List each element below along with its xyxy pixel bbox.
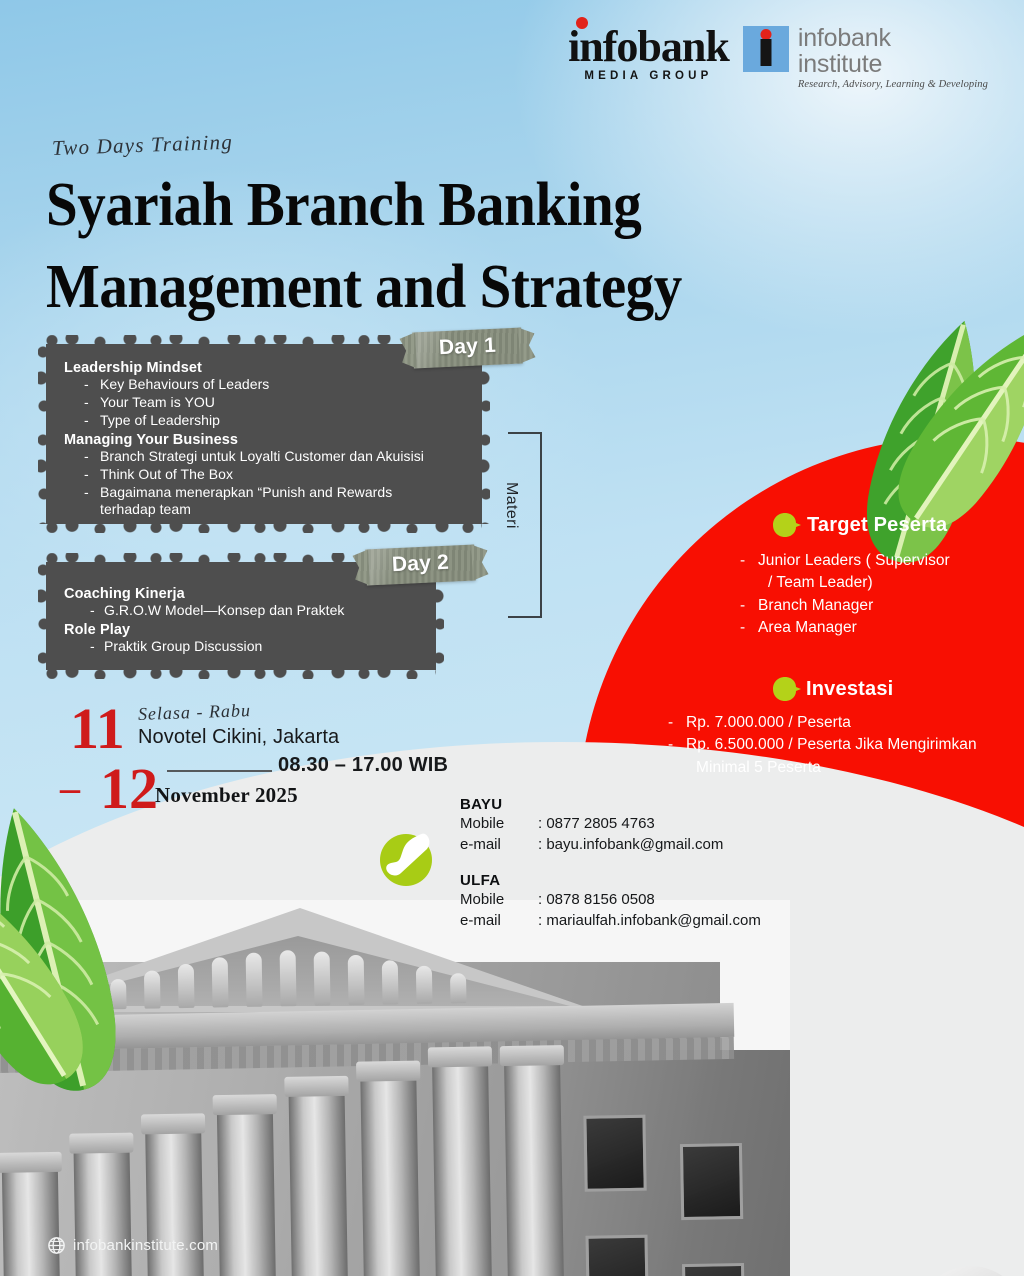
page-title-line-1: Syariah Branch Banking: [46, 165, 764, 247]
contact-block-ulfa: ULFA Mobile : 0878 8156 0508 e-mail : ma…: [460, 872, 761, 932]
contact-name: BAYU: [460, 796, 761, 813]
leaf-bullet-icon: [772, 512, 802, 538]
month-year-text: November 2025: [155, 783, 298, 808]
list-item: Type of Leadership: [64, 412, 464, 430]
institute-i-stem-icon: [760, 39, 771, 66]
column: [2, 1170, 64, 1276]
venue-text: Novotel Cikini, Jakarta: [138, 726, 339, 749]
infobank-media-group-logo: infobank MEDIA GROUP: [568, 22, 729, 82]
institute-i-mark-icon: [743, 26, 789, 72]
time-divider-rule: [167, 770, 272, 772]
list-item-continuation: terhadap team: [64, 501, 464, 519]
footer-website[interactable]: infobankinstitute.com: [73, 1237, 218, 1254]
date-day-of-week: Selasa - Rabu: [138, 700, 252, 725]
list-item: Area Manager: [740, 617, 950, 639]
globe-icon: [48, 1237, 65, 1254]
institute-line-2: institute: [798, 52, 988, 78]
time-text: 08.30 – 17.00 WIB: [278, 754, 448, 777]
column: [504, 1063, 568, 1276]
contact-email-row: e-mail : mariaulfah.infobank@gmail.com: [460, 910, 761, 931]
day2-section1-heading: Coaching Kinerja: [64, 586, 418, 602]
date-day-end: 12: [100, 760, 158, 818]
day2-section2-list: Praktik Group Discussion: [64, 638, 418, 656]
contact-mobile-value[interactable]: : 0878 8156 0508: [538, 889, 655, 910]
leaf-bullet-icon: [772, 676, 802, 702]
day1-tape-label: Day 1: [412, 328, 523, 369]
contact-email-label: e-mail: [460, 834, 538, 855]
column: [217, 1113, 280, 1276]
page-title: Syariah Branch Banking Management and St…: [46, 165, 764, 329]
building-windows: [583, 1112, 788, 1276]
page-title-line-2: Management and Strategy: [46, 247, 764, 329]
footer: infobankinstitute.com: [48, 1237, 218, 1254]
date-dash: –: [60, 768, 80, 808]
institute-tagline: Research, Advisory, Learning & Developin…: [798, 80, 988, 91]
contact-email-label: e-mail: [460, 910, 538, 931]
day1-card-inner: Leadership Mindset Key Behaviours of Lea…: [46, 344, 482, 531]
contact-block-bayu: BAYU Mobile : 0877 2805 4763 e-mail : ba…: [460, 796, 761, 856]
infobank-red-dot-icon: [576, 17, 588, 29]
contact-email-row: e-mail : bayu.infobank@gmail.com: [460, 834, 761, 855]
list-item: Rp. 6.500.000 / Peserta Jika Mengirimkan: [668, 734, 977, 756]
person-center: [1004, 1226, 1024, 1276]
column: [289, 1094, 352, 1276]
day1-section1-list: Key Behaviours of Leaders Your Team is Y…: [64, 376, 464, 430]
list-item: Bagaimana menerapkan “Punish and Rewards: [64, 484, 464, 502]
list-item: Branch Manager: [740, 595, 950, 617]
participants-photo: [878, 1212, 1024, 1276]
column: [360, 1079, 424, 1276]
list-item: Your Team is YOU: [64, 394, 464, 412]
institute-wordmark: infobank institute Research, Advisory, L…: [798, 26, 988, 91]
list-item-continuation: Minimal 5 Peserta: [668, 757, 977, 779]
neoclassical-building-photo: [0, 900, 790, 1276]
target-peserta-heading: Target Peserta: [807, 514, 947, 537]
contact-mobile-value[interactable]: : 0877 2805 4763: [538, 813, 655, 834]
day1-section2-heading: Managing Your Business: [64, 432, 464, 448]
media-group-text: MEDIA GROUP: [568, 70, 729, 82]
list-item-continuation: / Team Leader): [740, 572, 950, 594]
list-item: Think Out of The Box: [64, 466, 464, 484]
contact-list: BAYU Mobile : 0877 2805 4763 e-mail : ba…: [460, 796, 761, 947]
column: [74, 1151, 136, 1276]
column: [145, 1132, 208, 1276]
day2-tape-label: Day 2: [365, 545, 476, 586]
date-day-start: 11: [70, 700, 125, 758]
list-item: Key Behaviours of Leaders: [64, 376, 464, 394]
day2-section2-heading: Role Play: [64, 622, 418, 638]
infobank-wordmark-text: infobank: [568, 22, 729, 71]
investasi-list: Rp. 7.000.000 / Peserta Rp. 6.500.000 / …: [668, 712, 977, 779]
day1-section2-list: Branch Strategi untuk Loyalti Customer d…: [64, 448, 464, 520]
contact-mobile-row: Mobile : 0878 8156 0508: [460, 889, 761, 910]
list-item: Junior Leaders ( Supervisor: [740, 550, 950, 572]
list-item: Branch Strategi untuk Loyalti Customer d…: [64, 448, 464, 466]
infobank-institute-logo: infobank institute Research, Advisory, L…: [743, 22, 988, 91]
list-item: G.R.O.W Model—Konsep dan Praktek: [64, 602, 418, 620]
brand-logos: infobank MEDIA GROUP infobank institute …: [568, 22, 988, 91]
investasi-heading: Investasi: [806, 678, 893, 701]
pediment-statues: [69, 940, 530, 1010]
list-item: Praktik Group Discussion: [64, 638, 418, 656]
poster-canvas: infobank MEDIA GROUP infobank institute …: [0, 0, 1024, 1276]
column: [432, 1064, 496, 1276]
institute-line-1: infobank: [798, 26, 988, 52]
infobank-wordmark: infobank: [568, 28, 729, 66]
contact-email-value[interactable]: : bayu.infobank@gmail.com: [538, 834, 723, 855]
day2-section1-list: G.R.O.W Model—Konsep dan Praktek: [64, 602, 418, 620]
list-item: Rp. 7.000.000 / Peserta: [668, 712, 977, 734]
contact-mobile-row: Mobile : 0877 2805 4763: [460, 813, 761, 834]
contact-mobile-label: Mobile: [460, 889, 538, 910]
contact-mobile-label: Mobile: [460, 813, 538, 834]
person-left: [882, 1260, 1024, 1276]
target-peserta-list: Junior Leaders ( Supervisor / Team Leade…: [740, 550, 950, 640]
contact-name: ULFA: [460, 872, 761, 889]
day1-content-card: Leadership Mindset Key Behaviours of Lea…: [46, 344, 482, 524]
materi-label: Materi: [502, 482, 520, 529]
contact-email-value[interactable]: : mariaulfah.infobank@gmail.com: [538, 910, 761, 931]
phone-icon: [378, 828, 438, 888]
